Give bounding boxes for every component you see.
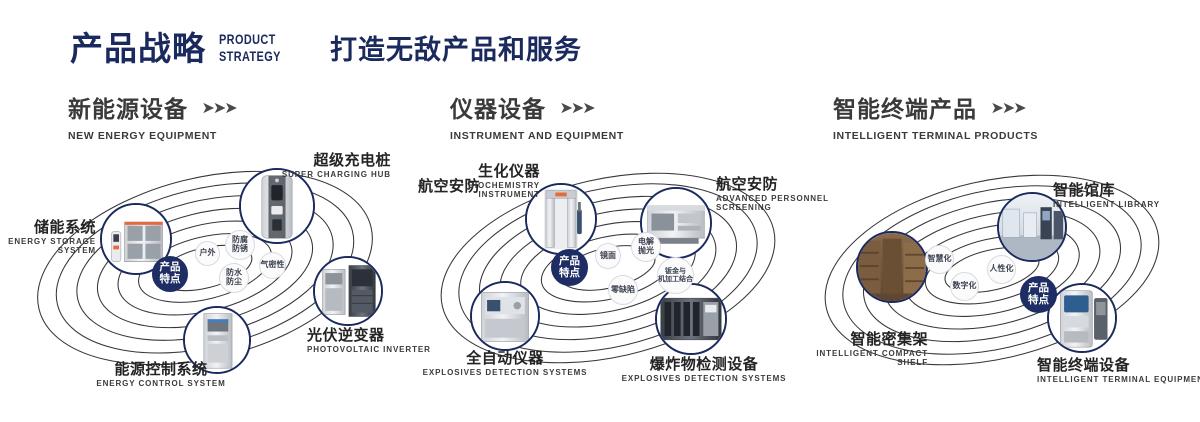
- node-label-cn: 全自动仪器: [420, 350, 590, 367]
- core-bubble-label: 产品特点: [160, 262, 181, 286]
- feature-bubble-label: 防水防尘: [226, 269, 242, 287]
- node-label-en: INTELLIGENT TERMINAL EQUIPMENT: [1037, 376, 1200, 385]
- node-label-cn: 超级充电桩: [250, 152, 391, 169]
- core-bubble-label: 产品特点: [1028, 283, 1049, 307]
- node-label-cn: 光伏逆变器: [307, 327, 467, 344]
- node-label-energy-storage-system: 储能系统 ENERGY STORAGESYSTEM: [0, 219, 96, 256]
- node-label-en: EXPLOSIVES DETECTION SYSTEMS: [420, 369, 590, 378]
- feature-bubble-label: 户外: [200, 249, 216, 258]
- node-label-en: SUPER CHARGING HUB: [250, 171, 391, 180]
- feature-bubble-electropolishing[interactable]: 电解抛光: [631, 232, 661, 262]
- node-label-en: ADVANCED PERSONNELSCREENING: [716, 195, 866, 213]
- node-label-intelligent-terminal-equipment: 智能终端设备 INTELLIGENT TERMINAL EQUIPMENT: [1037, 357, 1200, 385]
- core-bubble-new-energy[interactable]: 产品特点: [152, 256, 188, 292]
- core-bubble-intelligent-terminal[interactable]: 产品特点: [1020, 276, 1057, 313]
- node-label-explosives-detection-systems: 爆炸物检测设备 EXPLOSIVES DETECTION SYSTEMS: [614, 356, 794, 384]
- core-bubble-label: 产品特点: [559, 256, 580, 280]
- node-label-cn: 生化仪器: [400, 163, 540, 180]
- feature-bubble-label: 智慧化: [928, 255, 952, 264]
- feature-bubble-label: 镜面: [600, 252, 616, 261]
- node-label-cn: 航空安防: [716, 176, 866, 193]
- node-label-intelligent-compact-shelf: 智能密集架 INTELLIGENT COMPACTSHELF: [790, 331, 928, 368]
- node-label-en: INTELLIGENT LIBRARY: [1053, 201, 1200, 210]
- feature-bubble-airtight[interactable]: 气密性: [259, 252, 286, 279]
- feature-bubble-sheetmetal-machining[interactable]: 钣金与机加工结合: [657, 257, 694, 294]
- node-label-en: INTELLIGENT COMPACTSHELF: [790, 350, 928, 368]
- explosives-detection-image: [657, 285, 725, 353]
- photovoltaic-inverter-image: [315, 258, 381, 324]
- node-label-cn: 爆炸物检测设备: [614, 356, 794, 373]
- compact-shelf-image: [858, 233, 926, 301]
- feature-bubble-label: 钣金与机加工结合: [658, 268, 693, 284]
- feature-bubble-label: 数字化: [953, 282, 977, 291]
- node-label-en: BIOCHEMISTRYINSTRUMENT: [400, 182, 540, 200]
- node-label-cn: 储能系统: [0, 219, 96, 236]
- feature-bubble-label: 防腐防锈: [232, 236, 248, 254]
- node-label-automatic-instrument: 全自动仪器 EXPLOSIVES DETECTION SYSTEMS: [420, 350, 590, 378]
- node-label-cn: 智能密集架: [790, 331, 928, 348]
- node-label-super-charging-hub: 超级充电桩 SUPER CHARGING HUB: [250, 152, 391, 180]
- feature-bubble-label: 人性化: [990, 265, 1014, 274]
- photo-circle-intelligent-compact-shelf[interactable]: [856, 231, 928, 303]
- feature-bubble-digital[interactable]: 数字化: [950, 272, 979, 301]
- node-label-energy-control-system: 能源控制系统 ENERGY CONTROL SYSTEM: [66, 361, 256, 389]
- node-label-en: ENERGY CONTROL SYSTEM: [66, 380, 256, 389]
- terminal-kiosk-image: [1049, 285, 1115, 351]
- feature-bubble-label: 电解抛光: [638, 238, 654, 256]
- photo-circle-photovoltaic-inverter[interactable]: [313, 256, 383, 326]
- feature-bubble-anticorrosion[interactable]: 防腐防锈: [225, 230, 255, 260]
- photo-circle-explosives-detection[interactable]: [655, 283, 727, 355]
- node-label-intelligent-library: 智能馆库 INTELLIGENT LIBRARY: [1053, 182, 1200, 210]
- node-label-advanced-personnel-screening: 航空安防 ADVANCED PERSONNELSCREENING: [716, 176, 866, 213]
- node-label-en: ENERGY STORAGESYSTEM: [0, 238, 96, 256]
- node-label-cn: 智能终端设备: [1037, 357, 1200, 374]
- core-bubble-instrument[interactable]: 产品特点: [551, 249, 588, 286]
- charging-hub-image: [241, 170, 313, 242]
- node-label-en: EXPLOSIVES DETECTION SYSTEMS: [614, 375, 794, 384]
- photo-circle-automatic-instrument[interactable]: [470, 281, 540, 351]
- feature-bubble-humanized[interactable]: 人性化: [987, 255, 1016, 284]
- node-label-biochemistry-instrument: 生化仪器 BIOCHEMISTRYINSTRUMENT: [400, 163, 540, 200]
- node-label-cn: 能源控制系统: [66, 361, 256, 378]
- photo-circle-intelligent-terminal-equipment[interactable]: [1047, 283, 1117, 353]
- feature-bubble-zero-defect[interactable]: 零缺陷: [608, 275, 638, 305]
- feature-bubble-label: 气密性: [261, 261, 285, 270]
- node-label-cn: 智能馆库: [1053, 182, 1200, 199]
- feature-bubble-waterproof[interactable]: 防水防尘: [219, 263, 249, 293]
- feature-bubble-outdoor[interactable]: 户外: [195, 241, 220, 266]
- automatic-instrument-image: [472, 283, 538, 349]
- feature-bubble-smart[interactable]: 智慧化: [925, 245, 954, 274]
- feature-bubble-label: 零缺陷: [611, 286, 635, 295]
- feature-bubble-mirror[interactable]: 镜面: [595, 243, 621, 269]
